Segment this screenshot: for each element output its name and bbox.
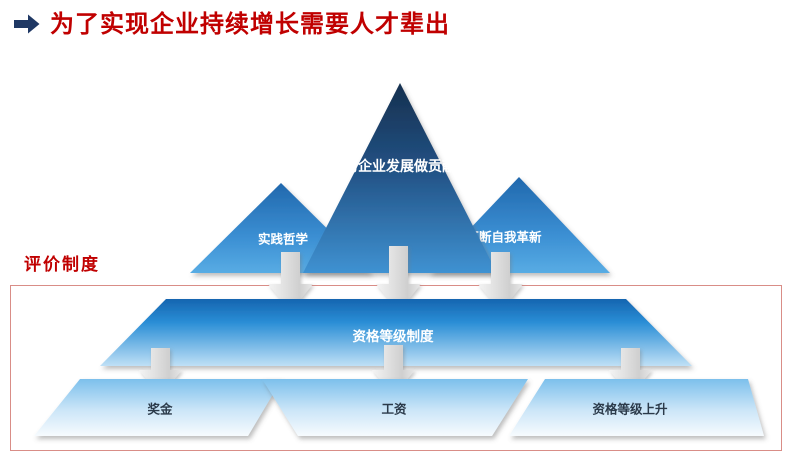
pyramid-base-item-2[interactable]: 资格等级上升	[509, 379, 764, 436]
slide-canvas: 为了实现企业持续增长需要人才辈出 评价制度	[0, 0, 800, 467]
pyramid-apex-triangle[interactable]: 为企业发展做贡献	[303, 83, 497, 273]
pyramid-base-label-0: 奖金	[147, 402, 173, 417]
pyramid-base-item-0[interactable]: 奖金	[34, 379, 282, 436]
pyramid-apex-label: 为企业发展做贡献	[344, 158, 456, 175]
pyramid-middle-label: 资格等级制度	[353, 328, 434, 345]
pyramid-left-label: 实践哲学	[258, 232, 309, 247]
pyramid-base-item-1[interactable]: 工资	[262, 379, 528, 436]
pyramid-diagram: 实践哲学 不断自我革新 为企业发展做贡献 资格等级制度	[0, 0, 800, 467]
pyramid-base-label-1: 工资	[381, 402, 407, 417]
pyramid-base-label-2: 资格等级上升	[592, 402, 668, 417]
